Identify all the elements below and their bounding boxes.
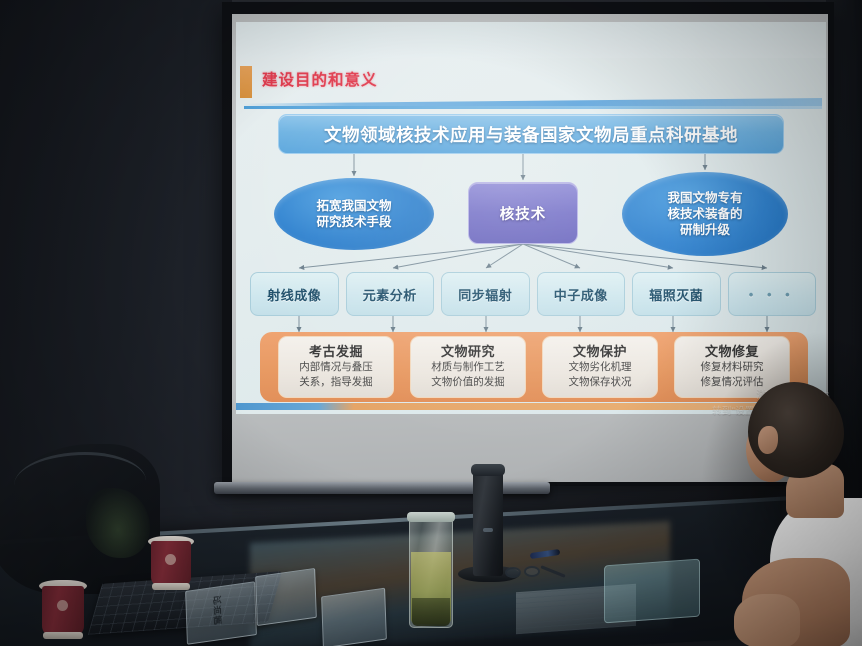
diagram-goal-left: 拓宽我国文物 研究技术手段 (274, 178, 434, 250)
application-card-1: 考古发掘 内部情况与叠压 关系，指导发掘 (278, 336, 394, 398)
technique-row: 射线成像 元素分析 同步辐射 中子成像 辐照灭菌 • • • (250, 272, 816, 316)
slide-title: 建设目的和意义 (262, 68, 378, 90)
diagram-core-node: 核技术 (468, 182, 578, 244)
application-title-1: 考古发掘 (309, 344, 363, 360)
goal-right-line1: 我国文物专有 (667, 190, 742, 206)
name-placard-2 (255, 568, 317, 626)
name-placard-1: 冯尚蔺 (185, 581, 257, 645)
tablet-device (604, 559, 700, 624)
application-sub-4-line1: 修复材料研究 (701, 361, 764, 375)
application-title-3: 文物保护 (573, 344, 627, 360)
eyeglasses-right-lens (524, 566, 540, 577)
application-title-4: 文物修复 (705, 344, 759, 360)
presentation-slide: 建设目的和意义 (236, 22, 826, 414)
title-underline-line (244, 106, 822, 109)
eyeglasses-left-lens (505, 567, 521, 578)
application-sub-2-line1: 材质与制作工艺 (431, 361, 505, 375)
microphone-indicator-led (483, 528, 493, 532)
name-placard-text-1: 冯尚蔺 (210, 595, 224, 627)
goal-left-line2: 研究技术手段 (316, 214, 391, 230)
person-hand (734, 594, 800, 646)
slide-top-bar (236, 22, 826, 58)
application-sub-2-line2: 文物价值的发掘 (431, 376, 505, 390)
application-sub-3-line2: 文物保存状况 (569, 376, 632, 390)
application-sub-1-line2: 关系，指导发掘 (299, 376, 373, 390)
seated-person (736, 382, 862, 646)
slide-diagram: 文物领域核技术应用与装备国家文物局重点科研基地 拓宽我国文物 研究技术手段 核技… (236, 110, 826, 410)
paper-cup-2 (42, 586, 84, 636)
application-sub-3-line1: 文物劣化机理 (569, 361, 632, 375)
microphone-head (471, 464, 505, 476)
tea-bottle-cap (407, 512, 455, 522)
paper-cup-logo-1 (165, 554, 176, 565)
paper-cup-base-1 (152, 583, 190, 590)
technique-box-1: 射线成像 (250, 272, 339, 316)
title-accent-bar (240, 66, 252, 98)
paper-cup-base-2 (43, 632, 83, 639)
diagram-banner-node: 文物领域核技术应用与装备国家文物局重点科研基地 (278, 114, 784, 154)
technique-box-2: 元素分析 (346, 272, 435, 316)
person-ear (758, 426, 778, 454)
technique-box-more: • • • (728, 272, 817, 316)
conference-room-photo: 建设目的和意义 (0, 0, 862, 646)
paper-cup-logo-2 (57, 600, 68, 611)
goal-right-line2: 核技术装备的 (667, 206, 742, 222)
technique-box-5: 辐照灭菌 (632, 272, 721, 316)
name-placard-3 (321, 588, 387, 646)
goal-left-line1: 拓宽我国文物 (316, 198, 391, 214)
technique-box-4: 中子成像 (537, 272, 626, 316)
diagram-goal-right: 我国文物专有 核技术装备的 研制升级 (622, 172, 788, 256)
application-sub-1-line1: 内部情况与叠压 (299, 361, 373, 375)
application-title-2: 文物研究 (441, 344, 495, 360)
technique-box-3: 同步辐射 (441, 272, 530, 316)
application-card-2: 文物研究 材质与制作工艺 文物价值的发掘 (410, 336, 526, 398)
conference-microphone (473, 468, 503, 576)
tea-leaves (412, 598, 450, 626)
goal-right-line3: 研制升级 (667, 222, 742, 238)
